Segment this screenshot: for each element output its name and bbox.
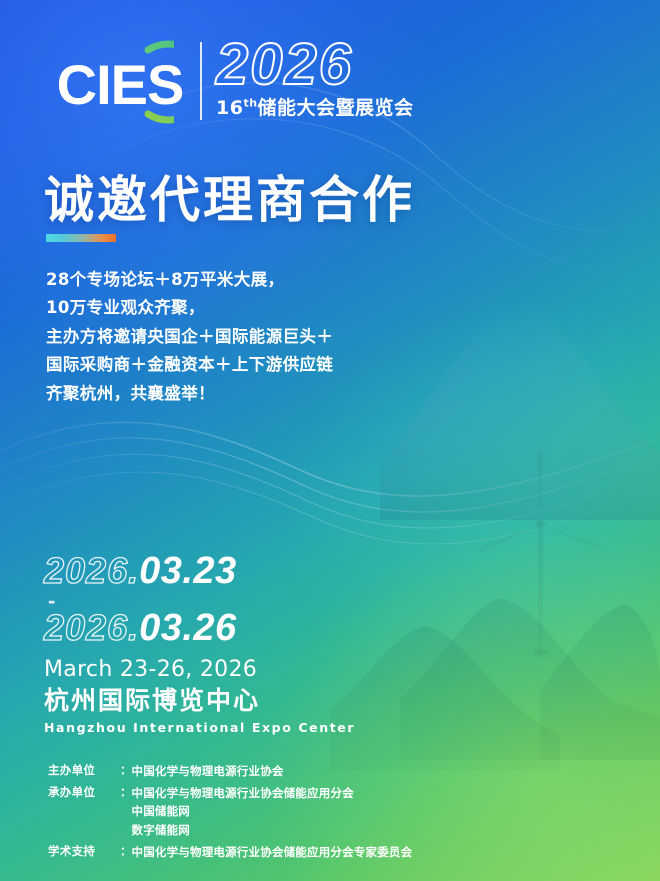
description-line-3: 主办方将邀请央国企＋国际能源巨头＋ — [46, 323, 333, 351]
description-line-5: 齐聚杭州，共襄盛举！ — [46, 380, 333, 408]
background-decoration — [0, 0, 660, 881]
organizer-row-host: 主办单位 ： 中国化学与物理电源行业协会 — [48, 762, 412, 781]
organizer-values-academic: 中国化学与物理电源行业协会储能应用分会专家委员会 — [132, 843, 413, 862]
description-line-1: 28个专场论坛＋8万平米大展， — [46, 266, 333, 294]
wave-lines-decoration — [0, 0, 660, 881]
venue-block: 杭州国际博览中心 Hangzhou International Expo Cen… — [44, 681, 355, 735]
edition-suffix: th — [243, 97, 257, 110]
organizer-colon-academic: ： — [120, 843, 132, 859]
description-line-2: 10万专业观众齐聚， — [46, 294, 333, 322]
logo-right-block: 2026 16th储能大会暨展览会 — [216, 36, 414, 120]
organizer-label-coorganizer: 承办单位 — [48, 784, 120, 800]
organizer-values-coorganizer: 中国化学与物理电源行业协会储能应用分会 中国储能网 数字储能网 — [132, 784, 354, 840]
start-date-value: 03.23 — [139, 552, 237, 590]
start-date-row: 2026. 03.23 — [44, 552, 257, 590]
edition-number: 16 — [216, 97, 243, 119]
organizer-values-host: 中国化学与物理电源行业协会 — [132, 762, 284, 781]
organizer-label-host: 主办单位 — [48, 762, 120, 778]
event-dates: 2026. 03.23 - 2026. 03.26 March 23-26, 2… — [44, 552, 257, 682]
organizer-colon-host: ： — [120, 762, 132, 778]
organizer-label-academic: 学术支持 — [48, 843, 120, 859]
organizer-value: 中国储能网 — [132, 802, 354, 821]
organizer-row-coorganizer: 承办单位 ： 中国化学与物理电源行业协会储能应用分会 中国储能网 数字储能网 — [48, 784, 412, 840]
organizer-value: 数字储能网 — [132, 821, 354, 840]
logo-year: 2026 — [216, 38, 414, 91]
organizer-value: 中国化学与物理电源行业协会储能应用分会专家委员会 — [132, 843, 413, 862]
page-title: 诚邀代理商合作 — [44, 160, 415, 232]
end-date-value: 03.26 — [139, 609, 237, 647]
organizer-value: 中国化学与物理电源行业协会储能应用分会 — [132, 784, 354, 803]
organizer-value: 中国化学与物理电源行业协会 — [132, 762, 284, 781]
edition-name: 储能大会暨展览会 — [258, 97, 414, 119]
description-line-4: 国际采购商＋金融资本＋上下游供应链 — [46, 351, 333, 379]
logo-edition-line: 16th储能大会暨展览会 — [216, 93, 414, 120]
wind-turbine-icon — [479, 453, 603, 658]
date-range-separator: - — [48, 594, 257, 607]
start-date-year: 2026. — [44, 553, 139, 589]
accent-divider-bar — [46, 234, 116, 242]
venue-name-cn: 杭州国际博览中心 — [44, 681, 355, 717]
end-date-year: 2026. — [44, 610, 139, 646]
glow-middle — [280, 300, 660, 720]
date-english: March 23-26, 2026 — [44, 657, 257, 682]
cies-logomark: CIES — [46, 36, 194, 128]
description-block: 28个专场论坛＋8万平米大展， 10万专业观众齐聚， 主办方将邀请央国企＋国际能… — [46, 266, 333, 408]
venue-name-en: Hangzhou International Expo Center — [44, 720, 355, 735]
organizers-block: 主办单位 ： 中国化学与物理电源行业协会 承办单位 ： 中国化学与物理电源行业协… — [48, 762, 412, 864]
organizer-colon-coorganizer: ： — [120, 784, 132, 800]
logo-divider — [200, 42, 202, 120]
end-date-row: 2026. 03.26 — [44, 609, 257, 647]
cies-wordmark: CIES — [57, 57, 184, 113]
event-logo: CIES 2026 16th储能大会暨展览会 — [46, 36, 414, 128]
poster-canvas: CIES 2026 16th储能大会暨展览会 诚邀代理商合作 28个专场论坛＋8… — [0, 0, 660, 881]
organizer-row-academic: 学术支持 ： 中国化学与物理电源行业协会储能应用分会专家委员会 — [48, 843, 412, 862]
